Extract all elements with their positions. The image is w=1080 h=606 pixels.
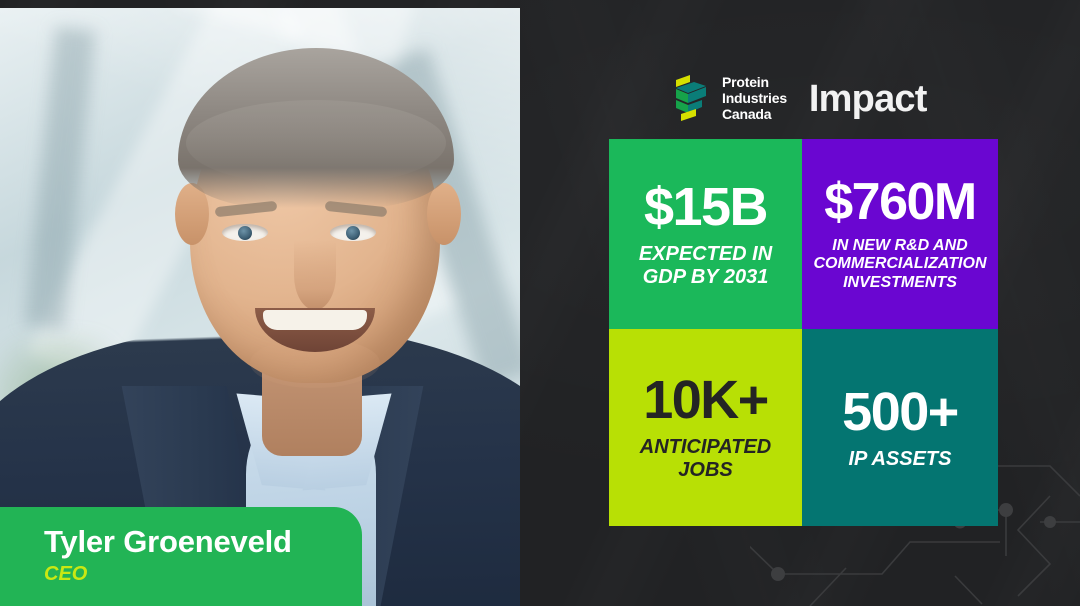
stat-label-jobs: ANTICIPATED JOBS — [617, 436, 794, 481]
protein-industries-canada-logo-icon — [672, 72, 708, 126]
stat-label-ip: IP ASSETS — [849, 448, 952, 471]
impact-stats-grid: $15B EXPECTED IN GDP BY 2031 $760M IN NE… — [609, 139, 998, 526]
stat-value-gdp: $15B — [644, 180, 767, 234]
logo-wordmark: Protein Industries Canada — [722, 75, 787, 122]
logo-word-line-3: Canada — [722, 107, 787, 123]
stat-value-rd: $760M — [824, 176, 976, 228]
logo-word-line-1: Protein — [722, 75, 787, 91]
stat-cell-jobs: 10K+ ANTICIPATED JOBS — [609, 329, 802, 526]
stat-value-jobs: 10K+ — [643, 373, 768, 427]
speaker-role: CEO — [44, 561, 362, 587]
speaker-name-banner: Tyler Groeneveld CEO — [0, 507, 362, 606]
stat-value-ip: 500+ — [842, 385, 958, 439]
slide-header: Protein Industries Canada Impact — [672, 72, 927, 126]
stat-label-gdp: EXPECTED IN GDP BY 2031 — [617, 243, 794, 288]
impact-slide: Tyler Groeneveld CEO Protein Industries … — [0, 0, 1080, 606]
speaker-photo: Tyler Groeneveld CEO — [0, 8, 520, 606]
logo-word-line-2: Industries — [722, 91, 787, 107]
stat-cell-gdp: $15B EXPECTED IN GDP BY 2031 — [609, 139, 802, 329]
stat-cell-ip: 500+ IP ASSETS — [802, 329, 998, 526]
page-title: Impact — [809, 78, 927, 121]
speaker-name: Tyler Groeneveld — [44, 525, 362, 560]
stat-cell-rd: $760M IN NEW R&D AND COMMERCIALIZATION I… — [802, 139, 998, 329]
stat-label-rd: IN NEW R&D AND COMMERCIALIZATION INVESTM… — [810, 237, 990, 291]
